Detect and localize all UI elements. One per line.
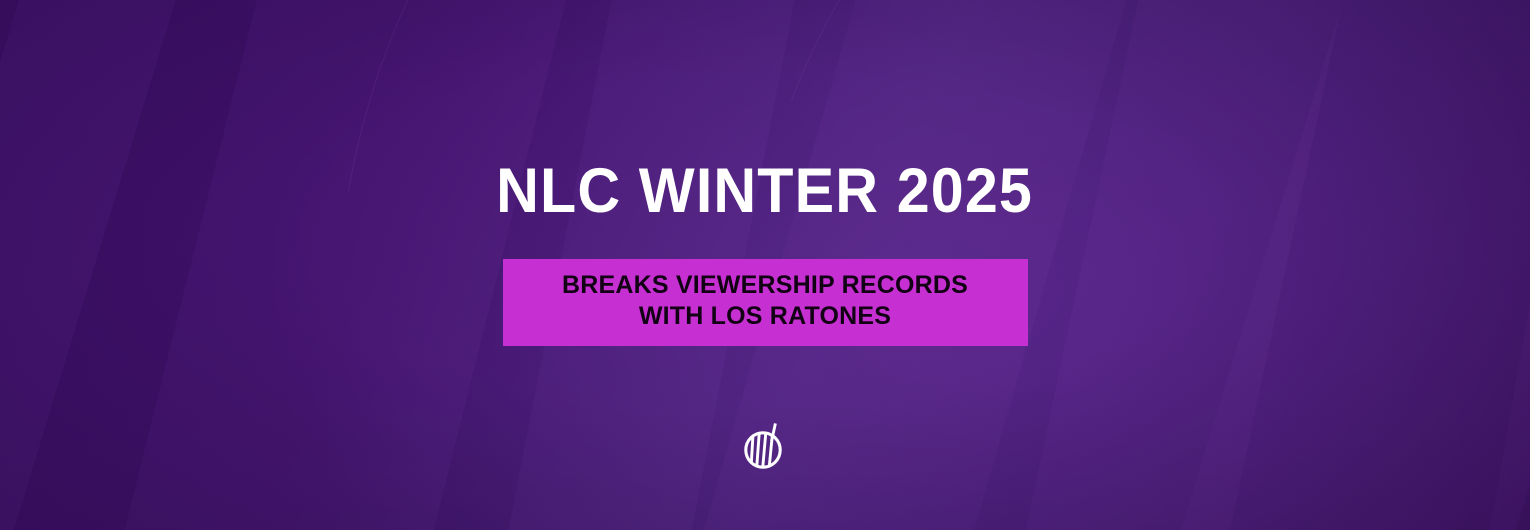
promo-banner: NLC WINTER 2025 BREAKS VIEWERSHIP RECORD… (0, 0, 1530, 530)
striped-circle-logo-icon (742, 421, 788, 471)
brand-logo (735, 416, 795, 476)
subtitle-line-2: WITH LOS RATONES (529, 301, 1002, 332)
subtitle-highlight-box: BREAKS VIEWERSHIP RECORDS WITH LOS RATON… (503, 259, 1028, 346)
banner-content: NLC WINTER 2025 BREAKS VIEWERSHIP RECORD… (0, 0, 1530, 530)
page-title: NLC WINTER 2025 (497, 160, 1034, 223)
subtitle-line-1: BREAKS VIEWERSHIP RECORDS (529, 270, 1002, 301)
